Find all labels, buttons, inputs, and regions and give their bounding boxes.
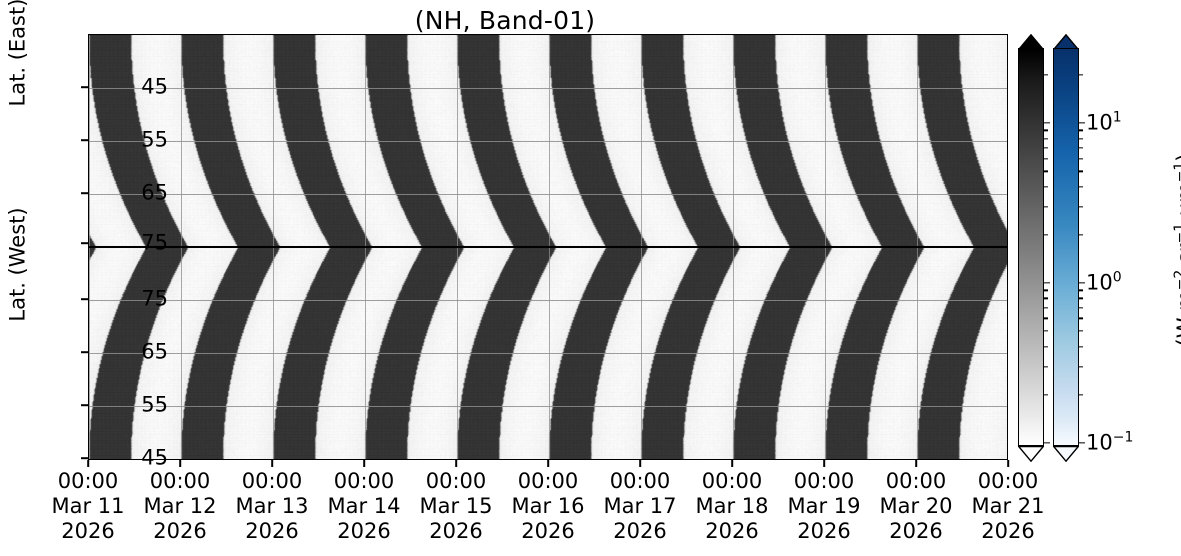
colorbar-minor-tick <box>1079 138 1083 139</box>
x-tick-label-time: 00:00 <box>948 469 1068 494</box>
colorbar-tick-label: 101 <box>1086 113 1122 134</box>
colorbar-minor-tick <box>1044 206 1048 207</box>
x-tick-mark <box>1007 460 1009 467</box>
colorbar-blues <box>1053 34 1079 460</box>
colorbar-minor-tick <box>1079 74 1083 75</box>
y-tick-label: 45 <box>141 77 168 98</box>
colorbar-major-tick <box>1044 282 1050 283</box>
y-tick-label: 45 <box>141 448 168 469</box>
colorbar-minor-tick <box>1044 130 1048 131</box>
y-tick-mark <box>81 242 88 244</box>
x-tick-mark <box>271 460 273 467</box>
x-tick-label: 00:00Mar 212026 <box>948 469 1068 544</box>
x-tick-mark <box>363 460 365 467</box>
y-tick-label: 65 <box>141 183 168 204</box>
y-tick-label: 55 <box>141 130 168 151</box>
colorbar-tick-label: 100 <box>1086 272 1122 293</box>
colorbar-greys-extend-top <box>1018 34 1044 49</box>
colorbar-major-tick <box>1079 282 1085 283</box>
colorbar-minor-tick <box>1079 307 1083 308</box>
colorbar-minor-tick <box>1044 366 1048 367</box>
colorbar-minor-tick <box>1079 206 1083 207</box>
x-tick-label-year: 2026 <box>948 519 1068 544</box>
chart-title: (NH, Band-01) <box>0 6 1010 36</box>
colorbar-blues-extend-bottom <box>1053 446 1079 461</box>
colorbar-tick-label: 10−1 <box>1086 432 1133 453</box>
x-tick-label-date: Mar 21 <box>948 494 1068 519</box>
plot-area <box>88 34 1008 460</box>
x-tick-mark <box>87 460 89 467</box>
x-tick-mark <box>179 460 181 467</box>
colorbar-minor-tick <box>1079 234 1083 235</box>
colorbar-minor-tick <box>1079 186 1083 187</box>
colorbar-minor-tick <box>1044 290 1048 291</box>
y-tick-mark <box>81 457 88 459</box>
colorbar-major-tick <box>1079 122 1085 123</box>
colorbar-minor-tick <box>1044 307 1048 308</box>
colorbar-minor-tick <box>1044 234 1048 235</box>
y-tick-mark <box>81 86 88 88</box>
colorbar-label: (W m−2 sr−1 μm−1) <box>1175 40 1181 460</box>
x-tick-mark <box>915 460 917 467</box>
colorbar-minor-tick <box>1079 298 1083 299</box>
y-tick-mark <box>81 404 88 406</box>
colorbar-minor-tick <box>1079 158 1083 159</box>
colorbar-minor-tick <box>1079 147 1083 148</box>
x-tick-mark <box>455 460 457 467</box>
colorbar-minor-tick <box>1079 318 1083 319</box>
colorbar-minor-tick <box>1044 138 1048 139</box>
y-tick-label: 75 <box>141 233 168 254</box>
colorbar-greys-extend-bottom <box>1018 446 1044 461</box>
colorbar-greys-body <box>1018 48 1044 446</box>
colorbar-minor-tick <box>1079 171 1083 172</box>
y-tick-mark <box>81 139 88 141</box>
colorbar-minor-tick <box>1044 394 1048 395</box>
colorbar-major-tick <box>1079 442 1085 443</box>
colorbar-blues-extend-top <box>1053 34 1079 49</box>
colorbar-minor-tick <box>1044 158 1048 159</box>
colorbar-minor-tick <box>1044 186 1048 187</box>
y-tick-label: 65 <box>141 342 168 363</box>
colorbar-major-tick <box>1044 122 1050 123</box>
colorbar-minor-tick <box>1079 346 1083 347</box>
y-tick-mark <box>81 298 88 300</box>
colorbar-minor-tick <box>1044 318 1048 319</box>
x-tick-mark <box>639 460 641 467</box>
colorbar-minor-tick <box>1079 290 1083 291</box>
colorbar-greys <box>1018 34 1044 460</box>
colorbar-blues-body <box>1053 48 1079 446</box>
colorbar-minor-tick <box>1044 298 1048 299</box>
colorbar-major-tick <box>1044 442 1050 443</box>
colorbar-minor-tick <box>1044 74 1048 75</box>
colorbar-minor-tick <box>1079 130 1083 131</box>
colorbar-minor-tick <box>1044 330 1048 331</box>
x-tick-mark <box>823 460 825 467</box>
y-tick-mark <box>81 351 88 353</box>
colorbar-minor-tick <box>1044 147 1048 148</box>
figure-root: (NH, Band-01) 4555657575655545 Lat. (Eas… <box>0 0 1181 556</box>
y-axis-label-east: Lat. (East) <box>8 0 29 163</box>
x-tick-mark <box>547 460 549 467</box>
heatmap-canvas <box>89 35 1008 460</box>
colorbar-minor-tick <box>1079 366 1083 367</box>
y-axis-label-west: Lat. (West) <box>8 155 29 375</box>
y-tick-mark <box>81 192 88 194</box>
colorbar-minor-tick <box>1079 394 1083 395</box>
y-tick-label: 55 <box>141 395 168 416</box>
colorbar-minor-tick <box>1044 171 1048 172</box>
x-tick-mark <box>731 460 733 467</box>
colorbar-minor-tick <box>1044 346 1048 347</box>
y-tick-label: 75 <box>141 289 168 310</box>
colorbar-minor-tick <box>1079 330 1083 331</box>
